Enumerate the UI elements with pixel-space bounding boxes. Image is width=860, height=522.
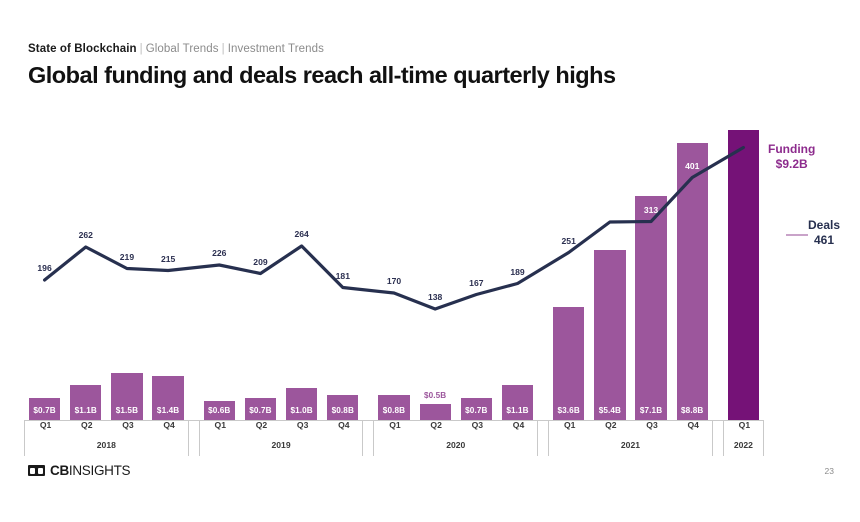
axis-tick-Q2-2020: Q2 xyxy=(416,420,457,430)
axis-tick-Q3-2021: Q3 xyxy=(631,420,672,430)
deals-point-label: 196 xyxy=(37,263,51,273)
axis-tick-Q4-2019: Q4 xyxy=(323,420,364,430)
breadcrumb: State of Blockchain|Global Trends|Invest… xyxy=(28,43,324,55)
axis-tick-Q2-2021: Q2 xyxy=(590,420,631,430)
logo-text: CBINSIGHTS xyxy=(50,463,130,478)
logo-text-light: INSIGHTS xyxy=(69,463,130,478)
axis-tick-Q1-2019: Q1 xyxy=(200,420,241,430)
deals-callout-tick xyxy=(786,234,808,236)
funding-callout-value: $9.2B xyxy=(768,157,815,172)
breadcrumb-separator-1: | xyxy=(137,43,146,55)
axis-group-2022: Q12022 xyxy=(723,420,764,456)
deals-point-label: 215 xyxy=(161,254,175,264)
axis-tick-Q1-2021: Q1 xyxy=(549,420,590,430)
deals-point-labels: 1962622192152262092641811701381671892513… xyxy=(24,120,764,420)
breadcrumb-section: Global Trends xyxy=(146,43,219,55)
deals-point-label: 170 xyxy=(387,276,401,286)
funding-callout-title: Funding xyxy=(768,142,815,157)
breadcrumb-subsection: Investment Trends xyxy=(228,43,324,55)
deals-point-label: 251 xyxy=(562,236,576,246)
axis-year-label: 2018 xyxy=(25,440,188,450)
axis-year-label: 2020 xyxy=(374,440,537,450)
axis-group-2021: Q1Q2Q3Q42021 xyxy=(548,420,713,456)
axis-tick-Q2-2019: Q2 xyxy=(241,420,282,430)
deals-point-label: 219 xyxy=(120,252,134,262)
combo-chart: $0.7B$1.1B$1.5B$1.4B$0.6B$0.7B$1.0B$0.8B… xyxy=(24,120,764,420)
deals-callout-title: Deals xyxy=(808,218,840,233)
cb-insights-logo: CBINSIGHTS xyxy=(28,463,130,478)
axis-tick-Q4-2018: Q4 xyxy=(149,420,190,430)
deals-point-label: 262 xyxy=(79,230,93,240)
deals-point-label: 209 xyxy=(253,257,267,267)
page-title: Global funding and deals reach all-time … xyxy=(28,62,616,89)
x-axis: Q1Q2Q3Q42018Q1Q2Q3Q42019Q1Q2Q3Q42020Q1Q2… xyxy=(24,420,764,456)
axis-year-groups: Q1Q2Q3Q42018Q1Q2Q3Q42019Q1Q2Q3Q42020Q1Q2… xyxy=(24,420,764,456)
cb-logo-icon xyxy=(28,465,45,476)
breadcrumb-report: State of Blockchain xyxy=(28,43,137,55)
axis-tick-Q1-2018: Q1 xyxy=(25,420,66,430)
deals-point-label: 181 xyxy=(336,271,350,281)
axis-group-2020: Q1Q2Q3Q42020 xyxy=(373,420,538,456)
deals-point-label: 138 xyxy=(428,292,442,302)
deals-point-label: 226 xyxy=(212,248,226,258)
axis-tick-Q2-2018: Q2 xyxy=(66,420,107,430)
axis-year-label: 2019 xyxy=(200,440,363,450)
deals-point-label: 264 xyxy=(294,229,308,239)
axis-tick-Q4-2021: Q4 xyxy=(673,420,714,430)
axis-tick-Q3-2020: Q3 xyxy=(457,420,498,430)
breadcrumb-separator-2: | xyxy=(219,43,228,55)
deals-callout: Deals 461 xyxy=(808,218,840,248)
axis-tick-Q4-2020: Q4 xyxy=(498,420,539,430)
funding-callout: Funding $9.2B xyxy=(768,142,815,172)
logo-text-bold: CB xyxy=(50,463,69,478)
slide: State of Blockchain|Global Trends|Invest… xyxy=(0,0,860,522)
deals-point-label: 313 xyxy=(644,205,658,215)
page-number: 23 xyxy=(825,466,834,476)
deals-point-label: 167 xyxy=(469,278,483,288)
deals-point-label: 189 xyxy=(510,267,524,277)
axis-tick-Q1-2022: Q1 xyxy=(724,420,765,430)
axis-group-2018: Q1Q2Q3Q42018 xyxy=(24,420,189,456)
axis-year-label: 2022 xyxy=(724,440,763,450)
axis-group-2019: Q1Q2Q3Q42019 xyxy=(199,420,364,456)
deals-point-label: 401 xyxy=(685,161,699,171)
deals-point-label: 312 xyxy=(603,205,617,215)
axis-tick-Q3-2018: Q3 xyxy=(107,420,148,430)
axis-year-label: 2021 xyxy=(549,440,712,450)
deals-callout-value: 461 xyxy=(808,233,840,248)
axis-tick-Q3-2019: Q3 xyxy=(282,420,323,430)
axis-tick-Q1-2020: Q1 xyxy=(374,420,415,430)
